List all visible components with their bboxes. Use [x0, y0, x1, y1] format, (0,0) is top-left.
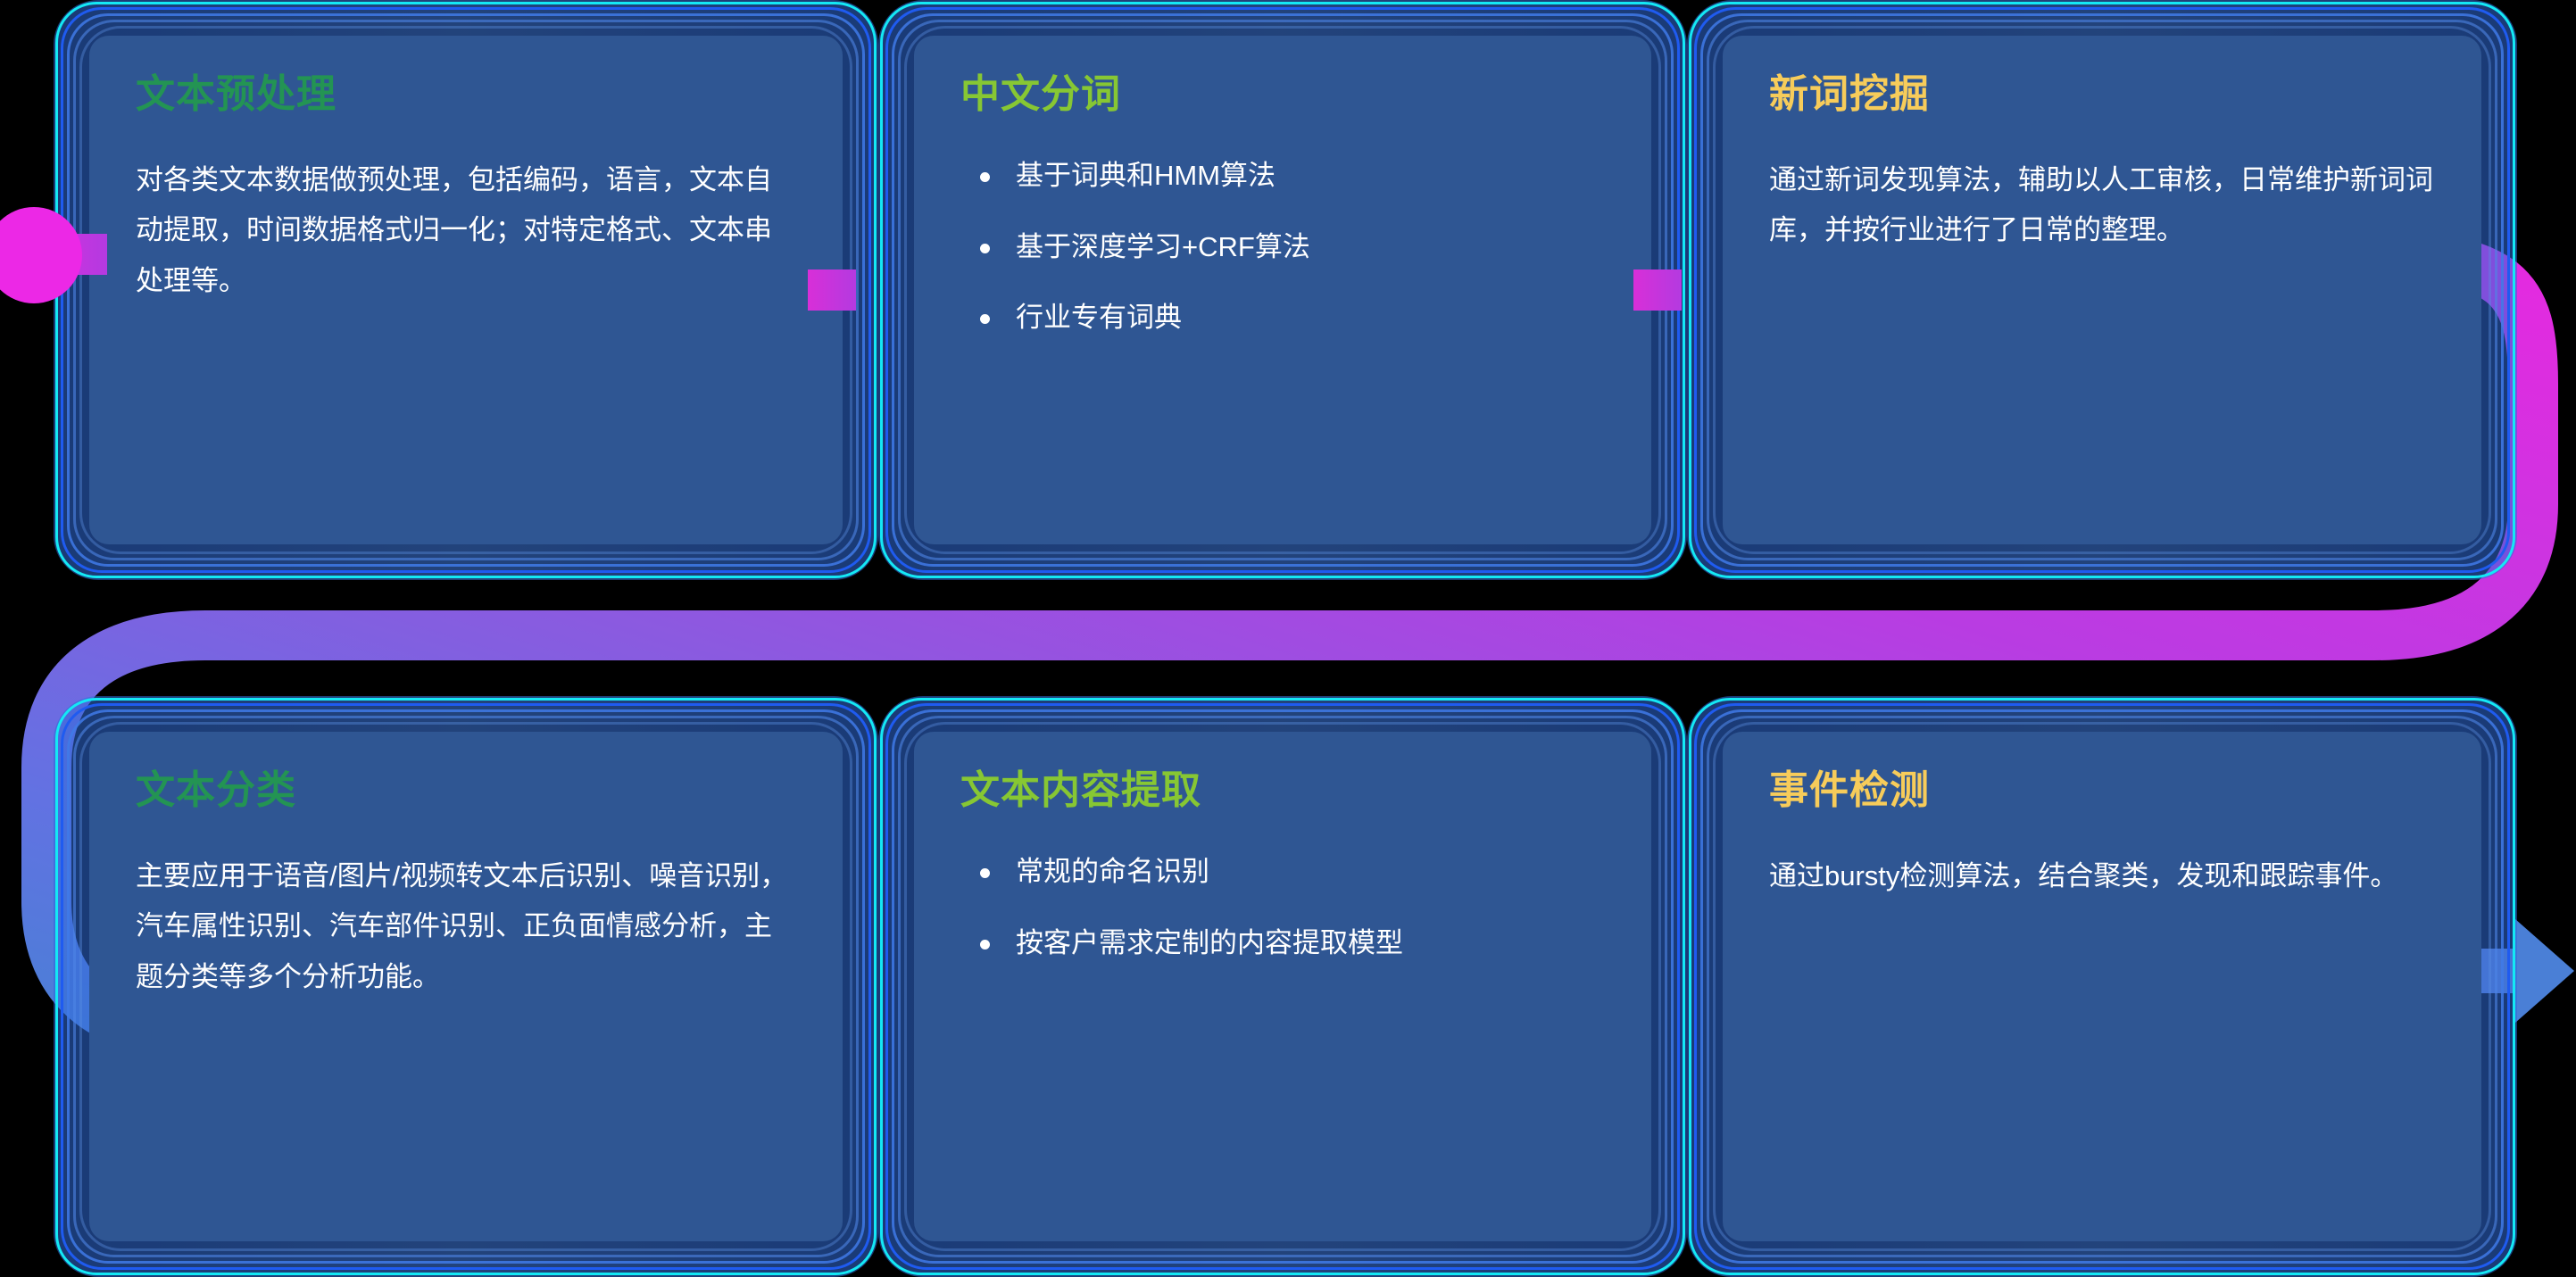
card-panel: 文本预处理 对各类文本数据做预处理，包括编码，语言，文本自动提取，时间数据格式归… — [89, 36, 843, 544]
card-text-classification[interactable]: 文本分类 主要应用于语音/图片/视频转文本后识别、噪音识别，汽车属性识别、汽车部… — [54, 696, 878, 1277]
card-event-detection[interactable]: 事件检测 通过bursty检测算法，结合聚类，发现和跟踪事件。 — [1687, 696, 2517, 1277]
card-panel: 中文分词 基于词典和HMM算法 基于深度学习+CRF算法 行业专有词典 — [914, 36, 1651, 544]
card-text-preprocessing[interactable]: 文本预处理 对各类文本数据做预处理，包括编码，语言，文本自动提取，时间数据格式归… — [54, 0, 878, 580]
list-item-label: 基于词典和HMM算法 — [1016, 160, 1276, 191]
card-panel: 文本内容提取 常规的命名识别 按客户需求定制的内容提取模型 — [914, 732, 1651, 1241]
card-title: 文本预处理 — [136, 75, 796, 114]
bullet-dot-icon — [980, 244, 990, 253]
card-chinese-segmentation[interactable]: 中文分词 基于词典和HMM算法 基于深度学习+CRF算法 行业专有词典 — [878, 0, 1687, 580]
card-body-text: 对各类文本数据做预处理，包括编码，语言，文本自动提取，时间数据格式归一化；对特定… — [136, 155, 796, 306]
card-new-word-mining[interactable]: 新词挖掘 通过新词发现算法，辅助以人工审核，日常维护新词词库，并按行业进行了日常… — [1687, 0, 2517, 580]
bullet-dot-icon — [980, 172, 990, 182]
bullet-dot-icon — [980, 940, 990, 949]
list-item: 行业专有词典 — [960, 297, 1605, 339]
list-item-label: 常规的命名识别 — [1016, 856, 1209, 887]
list-item-label: 行业专有词典 — [1016, 302, 1182, 333]
card-title: 新词挖掘 — [1769, 75, 2435, 114]
link-top-card1-card2 — [808, 269, 856, 311]
bottom-row: 文本分类 主要应用于语音/图片/视频转文本后识别、噪音识别，汽车属性识别、汽车部… — [54, 696, 2517, 1277]
list-item: 基于词典和HMM算法 — [960, 155, 1605, 197]
link-top-card2-card3 — [1633, 269, 1682, 311]
card-panel: 事件检测 通过bursty检测算法，结合聚类，发现和跟踪事件。 — [1723, 732, 2481, 1241]
card-bullet-list: 常规的命名识别 按客户需求定制的内容提取模型 — [960, 851, 1605, 964]
card-body-text: 通过新词发现算法，辅助以人工审核，日常维护新词词库，并按行业进行了日常的整理。 — [1769, 155, 2435, 256]
bullet-dot-icon — [980, 868, 990, 878]
card-content-extraction[interactable]: 文本内容提取 常规的命名识别 按客户需求定制的内容提取模型 — [878, 696, 1687, 1277]
card-title: 文本内容提取 — [960, 771, 1605, 810]
list-item-label: 基于深度学习+CRF算法 — [1016, 231, 1310, 262]
bullet-dot-icon — [980, 314, 990, 324]
diagram-canvas: 文本预处理 对各类文本数据做预处理，包括编码，语言，文本自动提取，时间数据格式归… — [0, 0, 2576, 1277]
card-title: 文本分类 — [136, 771, 796, 810]
list-item: 按客户需求定制的内容提取模型 — [960, 923, 1605, 965]
list-item: 基于深度学习+CRF算法 — [960, 227, 1605, 269]
card-panel: 新词挖掘 通过新词发现算法，辅助以人工审核，日常维护新词词库，并按行业进行了日常… — [1723, 36, 2481, 544]
top-row: 文本预处理 对各类文本数据做预处理，包括编码，语言，文本自动提取，时间数据格式归… — [54, 0, 2517, 580]
card-title: 中文分词 — [960, 75, 1605, 114]
card-title: 事件检测 — [1769, 771, 2435, 810]
card-bullet-list: 基于词典和HMM算法 基于深度学习+CRF算法 行业专有词典 — [960, 155, 1605, 339]
list-item: 常规的命名识别 — [960, 851, 1605, 893]
card-body-text: 主要应用于语音/图片/视频转文本后识别、噪音识别，汽车属性识别、汽车部件识别、正… — [136, 851, 796, 1002]
list-item-label: 按客户需求定制的内容提取模型 — [1016, 927, 1403, 958]
card-panel: 文本分类 主要应用于语音/图片/视频转文本后识别、噪音识别，汽车属性识别、汽车部… — [89, 732, 843, 1241]
card-body-text: 通过bursty检测算法，结合聚类，发现和跟踪事件。 — [1769, 851, 2435, 901]
